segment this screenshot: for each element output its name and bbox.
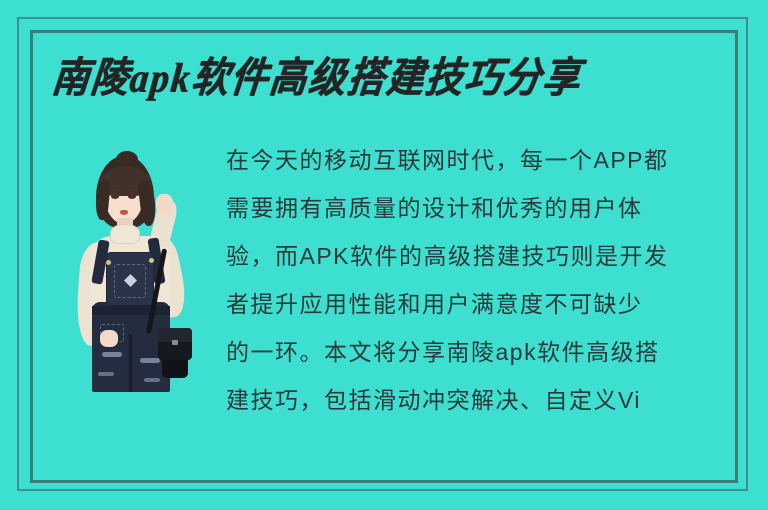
body-line: 需要拥有高质量的设计和优秀的用户体 [226,184,736,232]
body-line: 在今天的移动互联网时代，每一个APP都 [226,136,736,184]
page-title: 南陵apk软件高级搭建技巧分享 [49,53,714,105]
hand-left [100,330,118,347]
overalls-buckle-left [106,260,111,265]
mouth-shape [120,210,128,215]
eye-left [111,194,119,199]
article-body: 在今天的移动互联网时代，每一个APP都 需要拥有高质量的设计和优秀的用户体 验，… [226,136,736,424]
body-line: 建技巧，包括滑动冲突解决、自定义Vi [226,376,736,424]
hand-right [156,194,173,214]
body-line: 验，而APK软件的高级搭建技巧则是开发 [226,232,736,280]
overalls-buckle-right [149,258,154,263]
overalls-waistband [92,306,170,315]
denim-rip-1 [102,352,122,357]
body-line: 的一环。本文将分享南陵apk软件高级搭 [226,328,736,376]
poster-canvas: 南陵apk软件高级搭建技巧分享 [0,0,768,510]
overalls-leg-seam [129,334,132,392]
denim-rip-3 [98,372,114,376]
eye-right [128,194,136,199]
denim-rip-2 [140,358,160,363]
body-line: 者提升应用性能和用户满意度不可缺少 [226,280,736,328]
turtleneck-collar [110,224,140,244]
crossbody-bag-buckle [172,340,178,345]
denim-rip-4 [144,378,160,382]
illustration-woman [62,156,198,392]
